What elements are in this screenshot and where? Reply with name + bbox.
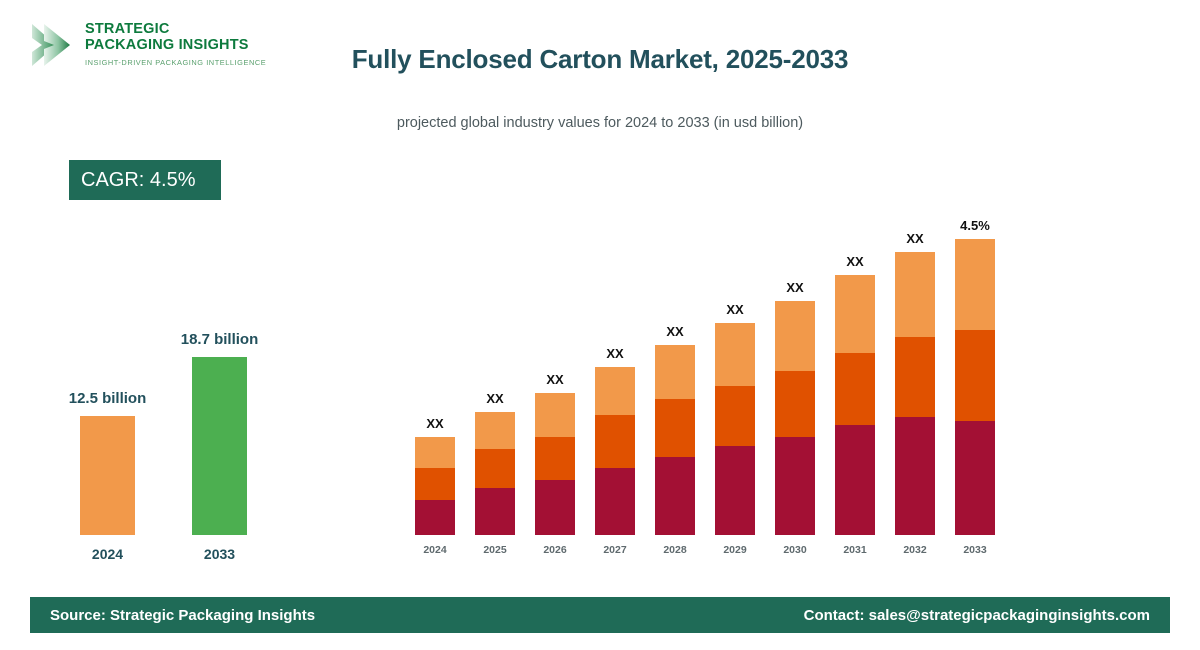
stacked-bar-value-label: XX <box>755 280 835 295</box>
stack-segment-segment-3 <box>535 393 575 437</box>
footer-bar: Source: Strategic Packaging Insights Con… <box>30 597 1170 633</box>
stacked-bar-column: XX2031 <box>835 275 875 535</box>
stacked-bar-value-label: XX <box>395 416 475 431</box>
logo-wordmark: STRATEGIC PACKAGING INSIGHTS INSIGHT-DRI… <box>85 21 266 67</box>
stacked-bar-column: XX2027 <box>595 367 635 535</box>
stacked-bar-column: XX2028 <box>655 345 695 535</box>
cagr-badge: CAGR: 4.5% <box>69 160 221 200</box>
stack-segment-segment-1 <box>475 488 515 535</box>
stacked-bar-column: 4.5%2033 <box>955 239 995 535</box>
stacked-bar-2027 <box>595 367 635 535</box>
stack-segment-segment-3 <box>595 367 635 415</box>
segment-stacked-forecast-chart: XX2024XX2025XX2026XX2027XX2028XX2029XX20… <box>408 200 1008 560</box>
stacked-bar-column: XX2032 <box>895 252 935 535</box>
stacked-bar-category-label: 2032 <box>895 544 935 556</box>
bar-value-label: 12.5 billion <box>28 390 188 407</box>
stacked-bar-column: XX2030 <box>775 301 815 535</box>
bar-2024 <box>80 416 135 535</box>
stacked-bar-value-label: XX <box>515 372 595 387</box>
bar-category-label: 2033 <box>192 546 247 562</box>
stack-segment-segment-1 <box>955 421 995 535</box>
chevron-logo-icon <box>30 22 78 68</box>
cagr-badge-label: CAGR: 4.5% <box>81 169 195 192</box>
stack-segment-segment-1 <box>835 425 875 535</box>
stack-segment-segment-3 <box>835 275 875 353</box>
stacked-bar-value-label: XX <box>875 231 955 246</box>
stacked-bar-category-label: 2033 <box>955 544 995 556</box>
stack-segment-segment-1 <box>415 500 455 535</box>
bar-column: 18.7 billion2033 <box>192 357 247 535</box>
stacked-bar-category-label: 2028 <box>655 544 695 556</box>
stacked-bar-value-label: XX <box>695 302 775 317</box>
stack-segment-segment-3 <box>715 323 755 386</box>
stacked-bar-value-label: XX <box>635 324 715 339</box>
stack-segment-segment-1 <box>775 437 815 535</box>
stacked-bar-category-label: 2025 <box>475 544 515 556</box>
stack-segment-segment-2 <box>955 330 995 421</box>
stack-segment-segment-3 <box>655 345 695 399</box>
stack-segment-segment-2 <box>655 399 695 457</box>
stacked-bar-category-label: 2029 <box>715 544 755 556</box>
footer-source: Source: Strategic Packaging Insights <box>50 607 315 624</box>
brand-logo: STRATEGIC PACKAGING INSIGHTS INSIGHT-DRI… <box>30 16 260 78</box>
endpoint-comparison-chart: 12.5 billion202418.7 billion2033 <box>50 300 310 570</box>
stack-segment-segment-3 <box>475 412 515 449</box>
stacked-bar-2026 <box>535 393 575 535</box>
stacked-bar-category-label: 2030 <box>775 544 815 556</box>
stack-segment-segment-2 <box>775 371 815 437</box>
bar-category-label: 2024 <box>80 546 135 562</box>
stacked-bar-2028 <box>655 345 695 535</box>
stack-segment-segment-1 <box>535 480 575 535</box>
stacked-bar-2024 <box>415 437 455 535</box>
stack-segment-segment-3 <box>775 301 815 371</box>
stack-segment-segment-1 <box>655 457 695 535</box>
stack-segment-segment-2 <box>715 386 755 446</box>
bar-2033 <box>192 357 247 535</box>
stacked-bar-column: XX2024 <box>415 437 455 535</box>
footer-contact: Contact: sales@strategicpackaginginsight… <box>804 607 1150 624</box>
logo-line-2: PACKAGING INSIGHTS <box>85 37 266 53</box>
stack-segment-segment-2 <box>895 337 935 417</box>
stacked-bar-2025 <box>475 412 515 535</box>
stacked-bar-value-label: XX <box>455 391 535 406</box>
stack-segment-segment-3 <box>895 252 935 337</box>
stack-segment-segment-2 <box>535 437 575 480</box>
stacked-bar-value-label: 4.5% <box>935 218 1015 233</box>
stack-segment-segment-2 <box>595 415 635 468</box>
stacked-bar-column: XX2026 <box>535 393 575 535</box>
logo-tagline: INSIGHT-DRIVEN PACKAGING INTELLIGENCE <box>85 58 266 67</box>
stacked-bar-2030 <box>775 301 815 535</box>
stacked-bar-category-label: 2027 <box>595 544 635 556</box>
stacked-bar-value-label: XX <box>575 346 655 361</box>
stacked-bar-column: XX2029 <box>715 323 755 535</box>
stack-segment-segment-2 <box>475 449 515 488</box>
stacked-bar-category-label: 2031 <box>835 544 875 556</box>
stack-segment-segment-1 <box>895 417 935 535</box>
stack-segment-segment-1 <box>715 446 755 535</box>
stacked-bar-2031 <box>835 275 875 535</box>
logo-line-1: STRATEGIC <box>85 21 266 37</box>
bar-column: 12.5 billion2024 <box>80 416 135 535</box>
stacked-bar-category-label: 2026 <box>535 544 575 556</box>
stack-segment-segment-2 <box>835 353 875 425</box>
stack-segment-segment-3 <box>955 239 995 330</box>
stacked-bar-column: XX2025 <box>475 412 515 535</box>
page-subtitle: projected global industry values for 202… <box>300 115 900 131</box>
stacked-bar-category-label: 2024 <box>415 544 455 556</box>
bar-value-label: 18.7 billion <box>140 331 300 348</box>
stack-segment-segment-1 <box>595 468 635 535</box>
stack-segment-segment-2 <box>415 468 455 500</box>
stacked-bar-2033 <box>955 239 995 535</box>
stacked-bar-value-label: XX <box>815 254 895 269</box>
stack-segment-segment-3 <box>415 437 455 468</box>
page-title: Fully Enclosed Carton Market, 2025-2033 <box>300 44 900 75</box>
stacked-bar-2032 <box>895 252 935 535</box>
stacked-bar-2029 <box>715 323 755 535</box>
